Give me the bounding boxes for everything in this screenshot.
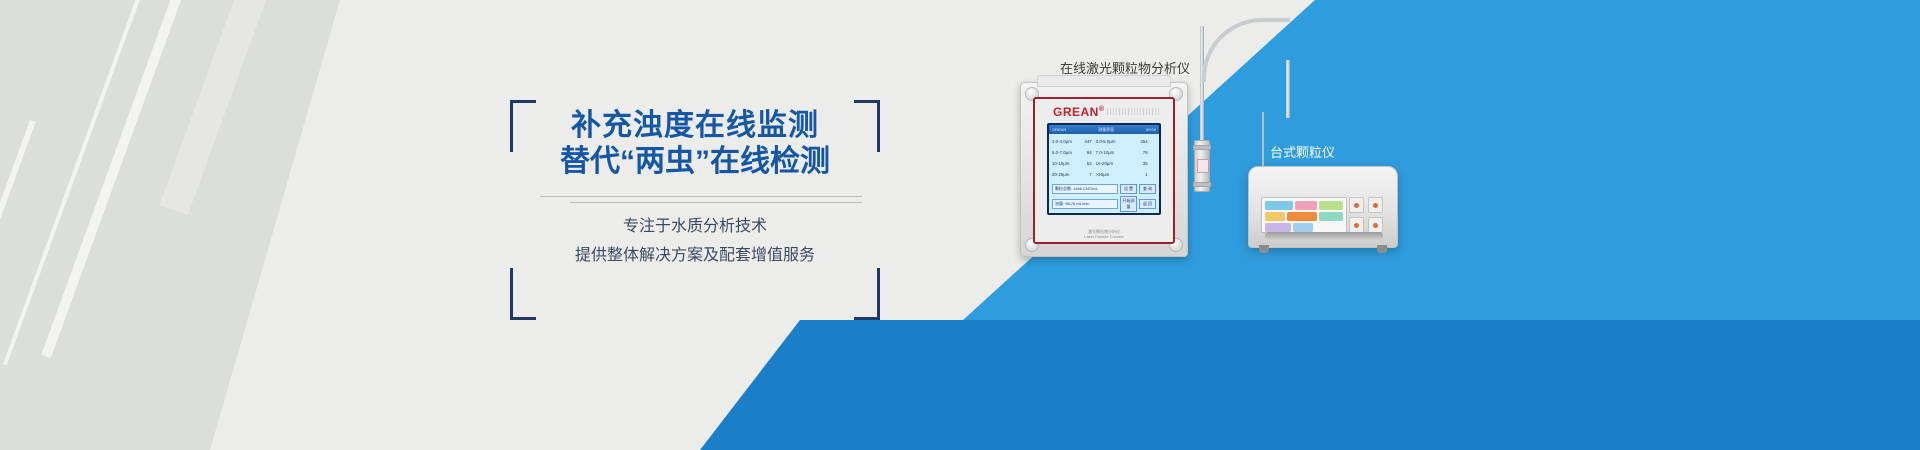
callout-bench-counter: 台式颗粒仪	[1270, 142, 1335, 161]
table-row: 5.0-7.0μm 94 7.0-10μm 76	[1052, 150, 1156, 156]
footer-english: Laser Particle Counter	[1035, 234, 1173, 239]
sample-pipe-downlead	[1286, 60, 1290, 118]
table-row: 20-25μm 7 >25μm 1	[1052, 172, 1156, 178]
analyser-display[interactable]: GREAN 测量界面 00:00 2.0-3.0μm 447 3.0-5.0μm…	[1047, 123, 1161, 215]
keypad-button[interactable]	[1349, 197, 1364, 213]
sensor-label	[1197, 159, 1209, 173]
bench-leg	[1259, 245, 1269, 253]
flow-rate-field: 流量: 98.78 mL/min	[1052, 199, 1118, 209]
online-laser-particle-analyser: GREAN® GREAN 测量界面 00:00 2.0-3.0μm 447	[1020, 82, 1188, 257]
subtitle-line-2: 提供整体解决方案及配套增值服务	[510, 241, 880, 270]
count-b: 454	[1127, 139, 1148, 145]
sensor-band	[1193, 145, 1211, 150]
bench-touch-panel[interactable]	[1261, 197, 1347, 233]
headline-block: 补充浊度在线监测 替代“两虫”在线检测 专注于水质分析技术 提供整体解决方案及配…	[510, 100, 880, 320]
display-title-left: GREAN	[1052, 127, 1066, 132]
brand-logo: GREAN®	[1053, 105, 1105, 119]
light-streak	[3, 0, 154, 365]
light-streak	[0, 120, 36, 338]
display-button-settings[interactable]: 设 置	[1120, 184, 1137, 194]
sample-pipe-arc	[1202, 18, 1290, 82]
panel-tile	[1319, 201, 1343, 210]
headline-line-1: 补充浊度在线监测	[510, 108, 880, 144]
divider-group	[540, 196, 862, 203]
panel-tile	[1295, 201, 1317, 210]
size-range-b: 15-20μm	[1096, 161, 1127, 167]
display-clock: 00:00	[1146, 127, 1156, 132]
keypad-button[interactable]	[1368, 217, 1383, 233]
bracket-bottom-right	[854, 268, 880, 320]
keypad-button[interactable]	[1368, 197, 1383, 213]
size-range-b: >25μm	[1096, 172, 1127, 178]
divider-line-2	[570, 202, 862, 203]
display-titlebar: GREAN 测量界面 00:00	[1049, 125, 1159, 134]
light-streak	[159, 0, 273, 215]
product-photo-area: 在线激光颗粒物分析仪 台式颗粒仪 GREAN® GREAN 测量界面	[980, 0, 1540, 450]
display-row-flow: 流量: 98.78 mL/min 开始测量 返 回	[1049, 195, 1159, 213]
panel-tile	[1293, 223, 1313, 232]
grey-left-panel	[0, 0, 400, 450]
count-b: 35	[1127, 161, 1148, 167]
headline-line-2: 替代“两虫”在线检测	[510, 144, 880, 180]
banner-root: 补充浊度在线监测 替代“两虫”在线检测 专注于水质分析技术 提供整体解决方案及配…	[0, 0, 1920, 450]
registered-mark: ®	[1099, 106, 1105, 113]
count-a: 52	[1079, 161, 1096, 167]
display-row-total: 颗粒总数: 1166 CNT/mL 设 置 查 询	[1049, 183, 1159, 195]
subtitle: 专注于水质分析技术 提供整体解决方案及配套增值服务	[510, 212, 880, 270]
bench-leg	[1377, 245, 1387, 253]
table-row: 10-15μm 52 15-20μm 35	[1052, 161, 1156, 167]
sensor-band	[1193, 182, 1211, 187]
bracket-bottom-left	[510, 268, 536, 320]
particle-count-table: 2.0-3.0μm 447 3.0-5.0μm 454 5.0-7.0μm 94…	[1049, 134, 1159, 183]
panel-tile	[1265, 201, 1293, 210]
display-button-back[interactable]: 返 回	[1139, 199, 1156, 209]
bench-antenna	[1262, 112, 1264, 168]
panel-tile	[1319, 212, 1343, 221]
panel-tile	[1265, 223, 1291, 232]
total-count-field: 颗粒总数: 1166 CNT/mL	[1052, 184, 1118, 194]
size-range-a: 20-25μm	[1052, 172, 1079, 178]
analyser-front-face: GREAN® GREAN 测量界面 00:00 2.0-3.0μm 447	[1033, 97, 1175, 244]
display-inner: GREAN 测量界面 00:00 2.0-3.0μm 447 3.0-5.0μm…	[1049, 125, 1159, 213]
subtitle-line-1: 专注于水质分析技术	[510, 212, 880, 241]
display-button-start-measure[interactable]: 开始测量	[1120, 196, 1137, 212]
size-range-a: 10-15μm	[1052, 161, 1079, 167]
benchtop-particle-counter	[1248, 166, 1398, 248]
count-b: 76	[1127, 150, 1148, 156]
analyser-footer-text: 激光颗粒物分析仪 Laser Particle Counter	[1035, 229, 1173, 239]
inline-flow-sensor	[1194, 140, 1210, 192]
bench-keypad[interactable]	[1349, 197, 1383, 233]
sample-pipe-vertical	[1200, 26, 1204, 146]
bench-body	[1248, 166, 1398, 248]
bench-front-slot	[1265, 232, 1383, 241]
count-a: 94	[1079, 150, 1096, 156]
keypad-button[interactable]	[1349, 217, 1364, 233]
display-button-query[interactable]: 查 询	[1139, 184, 1156, 194]
enclosure-lid	[1037, 75, 1171, 87]
vent-hatch	[1107, 108, 1161, 115]
panel-tile	[1287, 212, 1317, 221]
count-a: 7	[1079, 172, 1096, 178]
panel-tile	[1265, 212, 1285, 221]
divider-line-1	[540, 196, 862, 197]
size-range-b: 7.0-10μm	[1096, 150, 1127, 156]
display-title-center: 测量界面	[1098, 127, 1114, 133]
count-b: 1	[1127, 172, 1148, 178]
size-range-a: 5.0-7.0μm	[1052, 150, 1079, 156]
brand-name: GREAN	[1053, 105, 1099, 119]
count-a: 447	[1079, 139, 1096, 145]
headline: 补充浊度在线监测 替代“两虫”在线检测	[510, 108, 880, 180]
size-range-a: 2.0-3.0μm	[1052, 139, 1079, 145]
size-range-b: 3.0-5.0μm	[1096, 139, 1127, 145]
table-row: 2.0-3.0μm 447 3.0-5.0μm 454	[1052, 139, 1156, 145]
